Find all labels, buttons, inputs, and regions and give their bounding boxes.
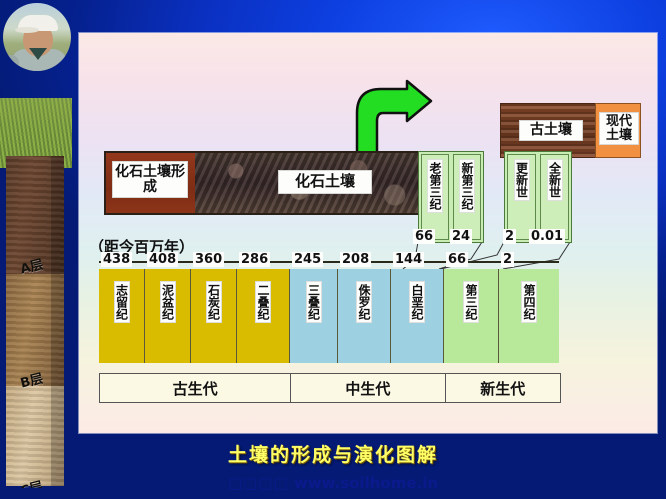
timeline-period: 第三纪	[444, 269, 499, 363]
era-cell: 古生代	[100, 374, 291, 402]
epoch-cell-new-tertiary: 新第三纪	[453, 154, 481, 240]
timeline-period: 侏罗纪	[338, 269, 391, 363]
geologic-timeline: 志留纪泥盆纪石炭纪二叠纪三叠纪侏罗纪白垩纪第三纪第四纪	[99, 269, 559, 363]
soil-column	[6, 156, 64, 486]
soil-column-edge	[51, 156, 64, 486]
timeline-boundary-value: 144	[393, 252, 424, 267]
epoch-label-pleistocene: 更新世	[514, 159, 530, 201]
paleosol-label: 古土壤	[519, 120, 583, 141]
timeline-period-label: 石炭纪	[206, 281, 222, 323]
timeline-period: 三叠纪	[290, 269, 338, 363]
presentation-slide: A层 B层 C层 古土壤 现代土壤 化石土壤形成 化石土壤	[0, 0, 666, 499]
footer: □□□□ www.soilhome.in	[0, 474, 666, 492]
fossil-soil-label: 化石土壤	[278, 170, 372, 194]
timeline-boundary-value: 360	[193, 252, 224, 267]
avatar	[3, 3, 71, 71]
timeline-period-label: 第三纪	[463, 281, 479, 323]
fossil-formation-label: 化石土壤形成	[112, 161, 188, 198]
avatar-arm	[3, 55, 19, 71]
era-row: 古生代中生代新生代	[99, 373, 561, 403]
timeline-period-label: 志留纪	[114, 281, 130, 323]
epoch-label-new-tertiary: 新第三纪	[459, 159, 475, 213]
epoch-cell-holocene: 全新世	[540, 154, 569, 240]
soil-profile-image: A层 B层 C层	[0, 98, 72, 488]
epoch-value-pleistocene: 2	[503, 229, 516, 244]
epoch-cell-pleistocene: 更新世	[507, 154, 536, 240]
timeline-period: 第四纪	[499, 269, 559, 363]
epoch-cell-old-tertiary: 老第三纪	[421, 154, 449, 240]
epoch-value-new-tertiary: 24	[450, 229, 472, 244]
timeline-period: 二叠纪	[237, 269, 290, 363]
era-cell: 中生代	[291, 374, 445, 402]
timeline-boundary-value: 66	[446, 252, 468, 267]
timeline-period: 石炭纪	[191, 269, 237, 363]
soil-layer-c	[6, 386, 64, 486]
epoch-value-holocene: 0.01	[529, 229, 565, 244]
epoch-label-holocene: 全新世	[547, 159, 563, 201]
timeline-boundary-value: 286	[239, 252, 270, 267]
timeline-period-label: 第四纪	[521, 281, 537, 323]
epoch-value-old-tertiary: 66	[413, 229, 435, 244]
timeline-period-label: 二叠纪	[255, 281, 271, 323]
fossil-soil-bar: 化石土壤形成 化石土壤	[104, 151, 424, 215]
epoch-label-old-tertiary: 老第三纪	[427, 159, 443, 213]
timeline-boundary-value: 208	[340, 252, 371, 267]
timeline-period: 白垩纪	[391, 269, 444, 363]
paleosol-box: 古土壤	[500, 103, 597, 158]
timeline-boundary-value: 2	[501, 252, 514, 267]
modern-soil-box: 现代土壤	[595, 103, 641, 158]
timeline-period: 志留纪	[99, 269, 145, 363]
timeline-period-label: 侏罗纪	[356, 281, 372, 323]
page-title: 土壤的形成与演化图解	[0, 440, 666, 467]
timeline-period-label: 三叠纪	[306, 281, 322, 323]
modern-soil-label: 现代土壤	[599, 112, 639, 145]
timeline-period-label: 白垩纪	[409, 281, 425, 323]
curved-arrow-right-icon	[351, 79, 435, 157]
timeline-boundary-value: 245	[292, 252, 323, 267]
timeline-boundary-value: 438	[101, 252, 132, 267]
timeline-period: 泥盆纪	[145, 269, 191, 363]
era-cell: 新生代	[446, 374, 561, 402]
avatar-cap-brim	[15, 27, 39, 33]
timeline-boundary-value: 408	[147, 252, 178, 267]
footer-prefix: □□□□	[228, 474, 289, 492]
footer-url[interactable]: www.soilhome.in	[294, 474, 438, 492]
diagram-panel: 古土壤 现代土壤 化石土壤形成 化石土壤 老第三纪	[79, 33, 657, 433]
timeline-period-label: 泥盆纪	[160, 281, 176, 323]
